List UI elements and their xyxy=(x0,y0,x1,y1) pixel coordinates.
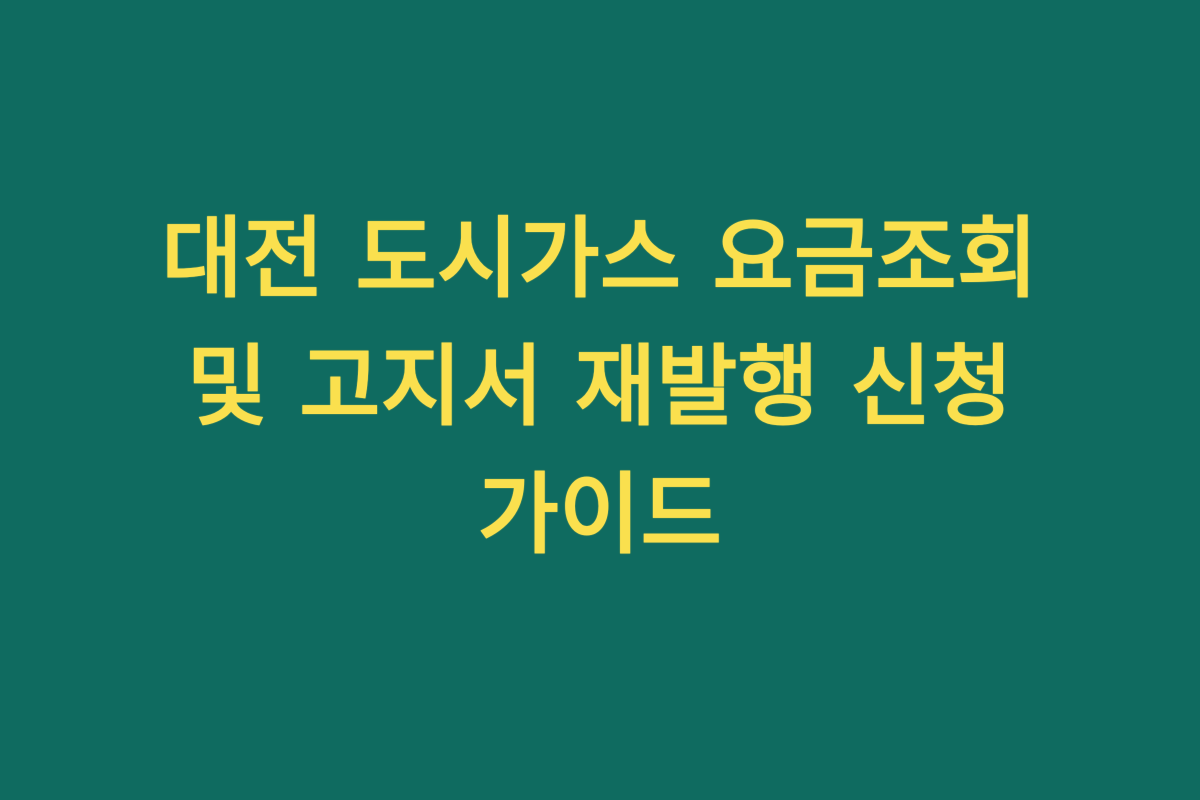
headline-line-3: 가이드 xyxy=(70,451,1130,579)
headline-line-1: 대전 도시가스 요금조회 xyxy=(70,195,1130,323)
headline-line-2: 및 고지서 재발행 신청 xyxy=(70,323,1130,451)
headline-block: 대전 도시가스 요금조회 및 고지서 재발행 신청 가이드 xyxy=(70,195,1130,579)
banner-canvas: 대전 도시가스 요금조회 및 고지서 재발행 신청 가이드 xyxy=(0,0,1200,800)
